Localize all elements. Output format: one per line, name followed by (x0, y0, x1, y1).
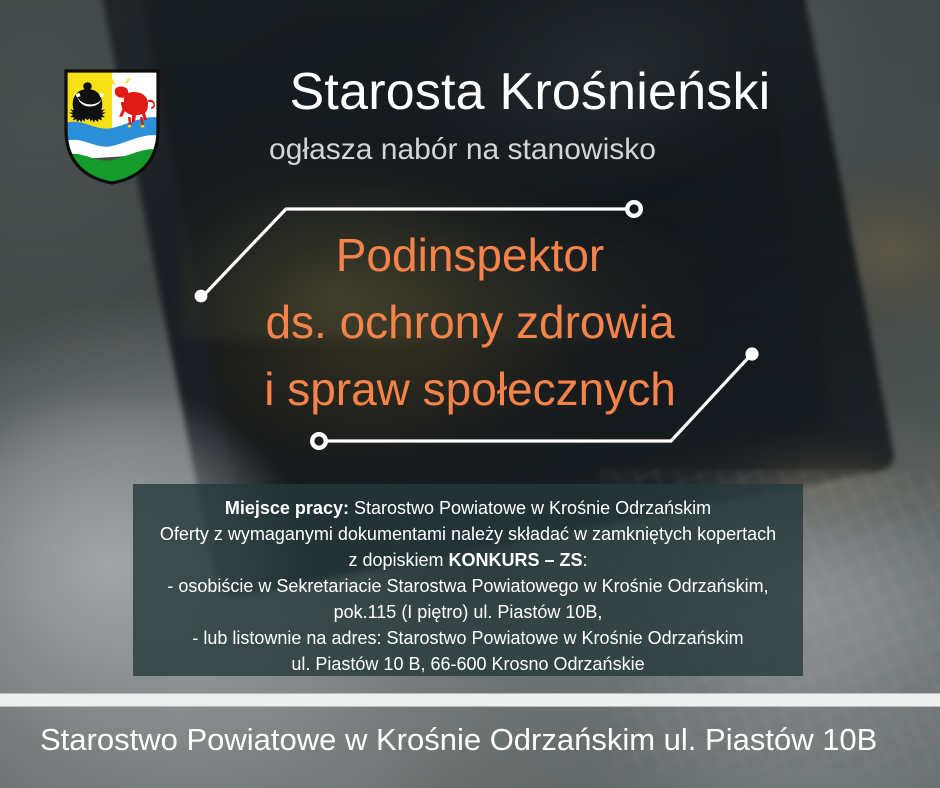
info-annotation-prefix: z dopiskiem (348, 550, 448, 570)
info-line-annotation: z dopiskiem KONKURS – ZS: (147, 547, 789, 573)
info-line-room: pok.115 (I piętro) ul. Piastów 10B, (147, 599, 789, 625)
footer-divider (0, 693, 940, 707)
coat-of-arms-icon (63, 68, 161, 186)
application-details-panel: Miejsce pracy: Starostwo Powiatowe w Kro… (133, 484, 803, 676)
recruitment-poster: Starosta Krośnieński ogłasza nabór na st… (0, 0, 940, 788)
info-line-workplace: Miejsce pracy: Starostwo Powiatowe w Kro… (147, 495, 789, 521)
poster-header: Starosta Krośnieński ogłasza nabór na st… (0, 58, 940, 178)
info-workplace-value: Starostwo Powiatowe w Krośnie Odrzańskim (349, 498, 711, 518)
info-line-submission: Oferty z wymaganymi dokumentami należy s… (147, 521, 789, 547)
info-line-address: ul. Piastów 10 B, 66-600 Krosno Odrzańsk… (147, 651, 789, 677)
info-annotation-suffix: : (583, 550, 588, 570)
info-workplace-label: Miejsce pracy: (225, 498, 349, 518)
page-subtitle: ogłasza nabór na stanowisko (180, 130, 745, 170)
position-title: Podinspektor ds. ochrony zdrowia i spraw… (130, 222, 810, 423)
position-line-2: ds. ochrony zdrowia (130, 289, 810, 356)
footer-address: Starostwo Powiatowe w Krośnie Odrzańskim… (40, 720, 900, 760)
info-annotation-code: KONKURS – ZS (449, 550, 583, 570)
position-line-3: i spraw społecznych (130, 356, 810, 423)
position-line-1: Podinspektor (130, 222, 810, 289)
info-line-inperson: - osobiście w Sekretariacie Starostwa Po… (147, 573, 789, 599)
info-line-mail: - lub listownie na adres: Starostwo Powi… (147, 625, 789, 651)
page-title: Starosta Krośnieński (180, 60, 880, 124)
